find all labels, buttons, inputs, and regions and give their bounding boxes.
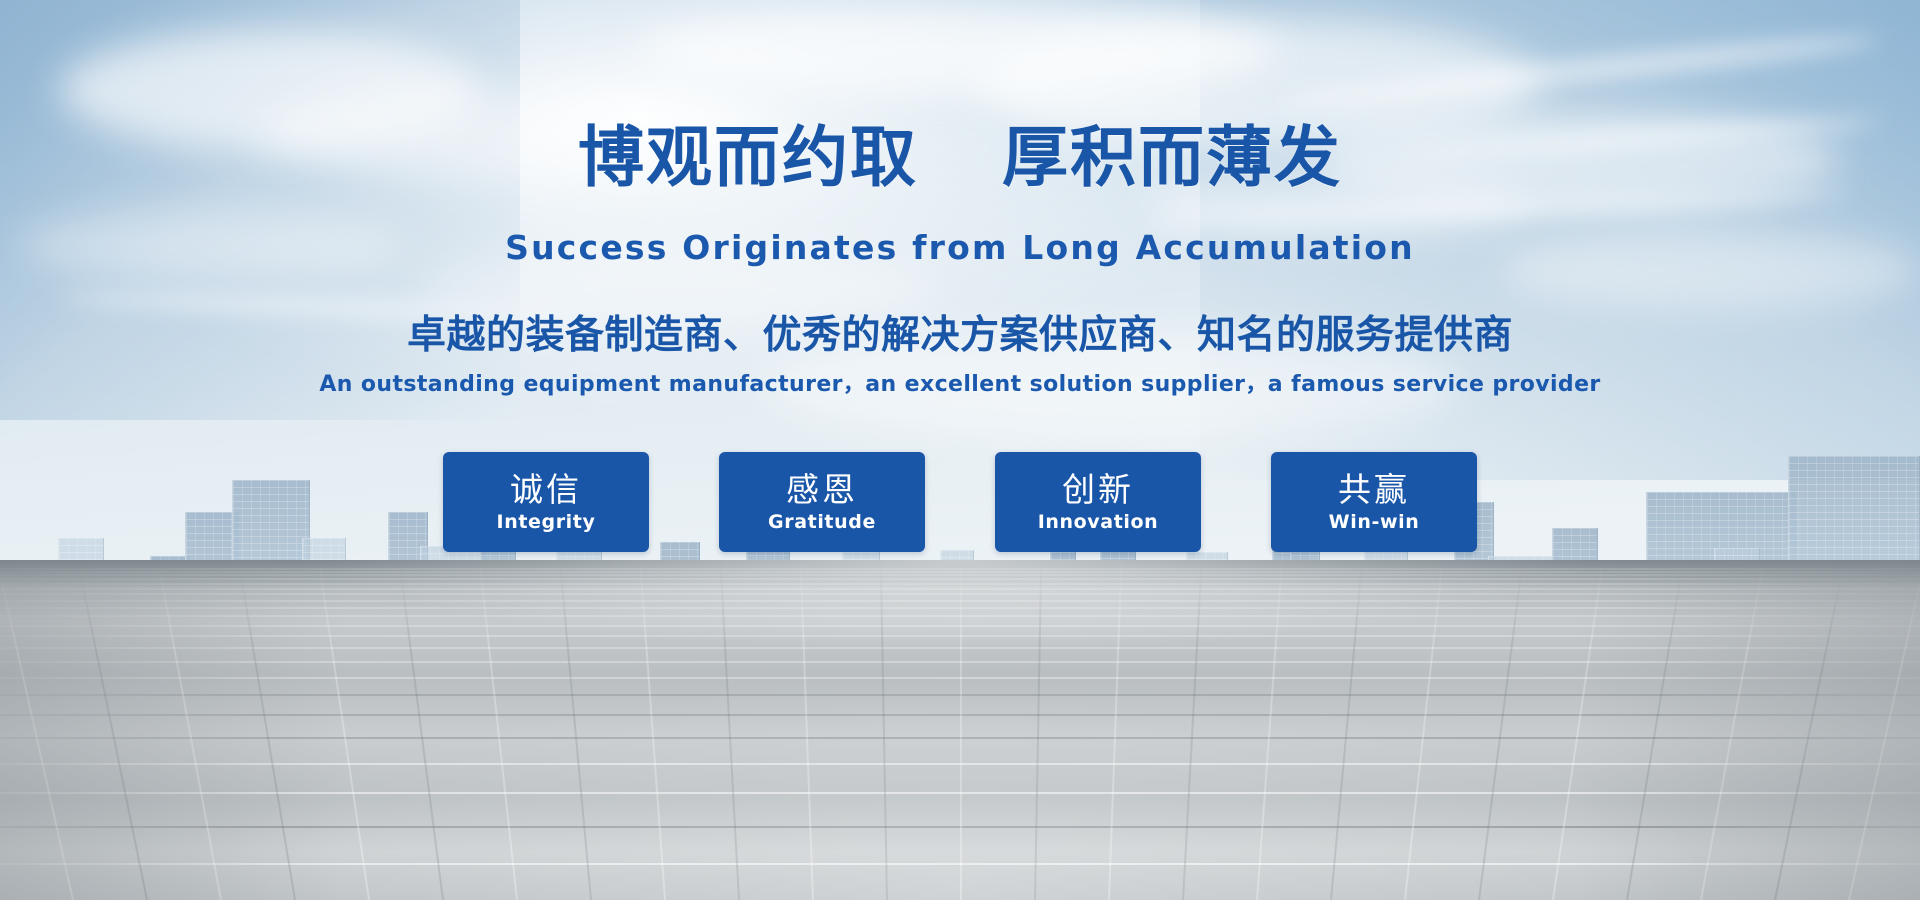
headline-chinese: 博观而约取 厚积而薄发: [0, 122, 1920, 194]
value-box-label-cn: 创新: [1062, 471, 1134, 509]
value-box-label-en: Win-win: [1329, 510, 1420, 534]
value-box-innovation[interactable]: 创新 Innovation: [995, 452, 1201, 552]
value-box-label-cn: 共赢: [1338, 471, 1410, 509]
banner-content: 博观而约取 厚积而薄发 Success Originates from Long…: [0, 0, 1920, 900]
headline-chinese-part2: 厚积而薄发: [1002, 119, 1342, 196]
value-box-gratitude[interactable]: 感恩 Gratitude: [719, 452, 925, 552]
value-box-label-en: Integrity: [497, 510, 596, 534]
tagline-english: An outstanding equipment manufacturer，an…: [0, 366, 1920, 398]
value-box-winwin[interactable]: 共赢 Win-win: [1271, 452, 1477, 552]
headline-english: Success Originates from Long Accumulatio…: [0, 228, 1920, 267]
value-box-list: 诚信 Integrity 感恩 Gratitude 创新 Innovation …: [0, 452, 1920, 552]
headline-chinese-part1: 博观而约取: [578, 119, 918, 196]
value-box-label-en: Innovation: [1038, 510, 1159, 534]
value-box-label-en: Gratitude: [768, 510, 876, 534]
value-box-label-cn: 诚信: [510, 471, 582, 509]
hero-banner: 博观而约取 厚积而薄发 Success Originates from Long…: [0, 0, 1920, 900]
value-box-label-cn: 感恩: [786, 471, 858, 509]
value-box-integrity[interactable]: 诚信 Integrity: [443, 452, 649, 552]
tagline-chinese: 卓越的装备制造商、优秀的解决方案供应商、知名的服务提供商: [0, 304, 1920, 360]
